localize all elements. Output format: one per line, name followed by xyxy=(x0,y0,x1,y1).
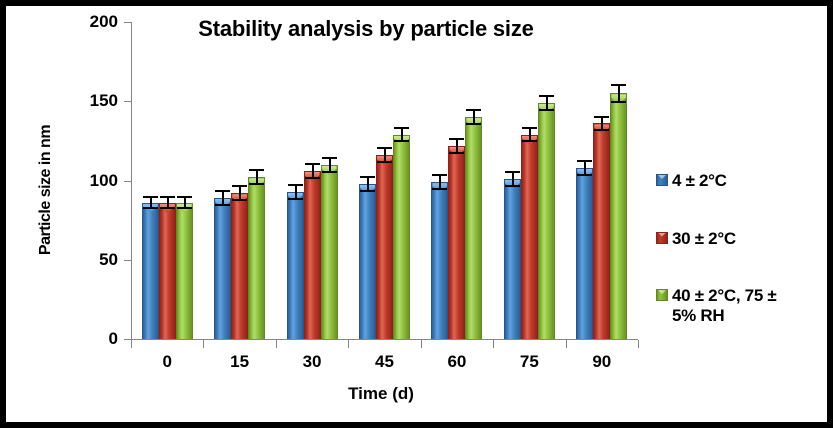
legend-swatch-icon xyxy=(656,232,668,244)
x-tick-label: 60 xyxy=(427,352,487,372)
legend-swatch-icon xyxy=(656,289,668,301)
error-bar-cap-bottom xyxy=(577,174,592,176)
error-bar-cap-top xyxy=(611,84,626,86)
x-tick-mark xyxy=(566,340,567,348)
error-bar xyxy=(610,84,627,103)
bar-group xyxy=(131,22,636,339)
y-tick-label-wrap: 0 xyxy=(56,339,118,340)
x-tick-label: 15 xyxy=(210,352,270,372)
legend-swatch-icon xyxy=(656,174,668,186)
legend-item-1[interactable]: 30 ± 2°C xyxy=(656,229,826,249)
error-bar-cap-top xyxy=(594,116,609,118)
y-tick-mark xyxy=(124,339,131,340)
y-tick-label: 0 xyxy=(58,330,118,347)
x-tick-label: 90 xyxy=(572,352,632,372)
error-bar xyxy=(576,160,593,176)
legend-label: 30 ± 2°C xyxy=(672,229,736,249)
error-bar-cap-bottom xyxy=(611,101,626,103)
x-tick-mark xyxy=(276,340,277,348)
legend-item-2[interactable]: 40 ± 2°C, 75 ± 5% RH xyxy=(656,286,826,325)
y-tick-label-wrap: 200 xyxy=(56,22,118,23)
legend-label: 40 ± 2°C, 75 ± 5% RH xyxy=(672,286,776,325)
y-tick-label: 50 xyxy=(58,251,118,268)
y-tick-label: 150 xyxy=(58,92,118,109)
x-tick-mark xyxy=(348,340,349,348)
chart-screenshot: Stability analysis by particle size Part… xyxy=(0,0,833,428)
x-tick-mark xyxy=(493,340,494,348)
x-tick-mark xyxy=(131,340,132,348)
y-tick-label-wrap: 150 xyxy=(56,101,118,102)
x-tick-label: 45 xyxy=(355,352,415,372)
error-bar xyxy=(593,116,610,132)
y-tick-label: 200 xyxy=(58,13,118,30)
chart-canvas: Stability analysis by particle size Part… xyxy=(6,6,827,422)
x-axis-line xyxy=(125,339,638,340)
bar-1-6 xyxy=(593,123,610,339)
x-tick-mark xyxy=(638,340,639,348)
bar-0-6 xyxy=(576,168,593,339)
legend-label: 4 ± 2°C xyxy=(672,171,727,191)
y-tick-mark xyxy=(124,22,131,23)
y-tick-label-wrap: 100 xyxy=(56,181,118,182)
x-tick-label: 30 xyxy=(282,352,342,372)
x-tick-mark xyxy=(203,340,204,348)
x-tick-label: 0 xyxy=(137,352,197,372)
y-tick-mark xyxy=(124,260,131,261)
y-tick-mark xyxy=(124,181,131,182)
bar-2-6 xyxy=(610,93,627,339)
plot-area xyxy=(131,22,636,339)
y-axis-title: Particle size in nm xyxy=(37,90,55,290)
x-tick-label: 75 xyxy=(499,352,559,372)
y-tick-mark xyxy=(124,101,131,102)
y-tick-label-wrap: 50 xyxy=(56,260,118,261)
chart-legend: 4 ± 2°C30 ± 2°C40 ± 2°C, 75 ± 5% RH xyxy=(656,171,826,363)
x-tick-mark xyxy=(421,340,422,348)
x-axis-title: Time (d) xyxy=(126,384,636,404)
y-tick-label: 100 xyxy=(58,172,118,189)
error-bar-cap-bottom xyxy=(594,129,609,131)
legend-item-0[interactable]: 4 ± 2°C xyxy=(656,171,826,191)
error-bar-cap-top xyxy=(577,160,592,162)
